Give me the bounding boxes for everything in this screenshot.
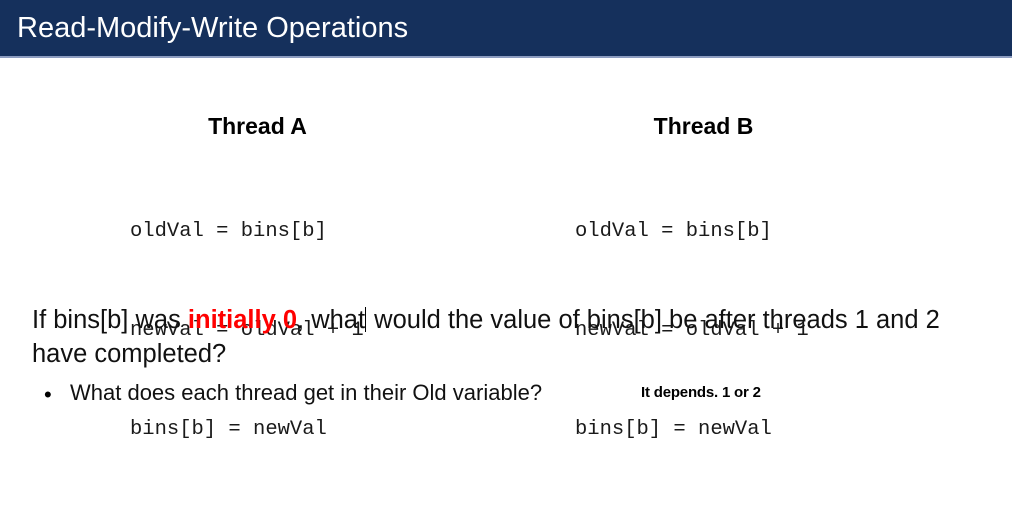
bullet-row: • What does each thread get in their Old… [42, 378, 1002, 410]
question-part-1: If bins[b] was [32, 306, 188, 334]
code-line: bins[b] = newVal [575, 413, 965, 446]
code-line: oldVal = bins[b] [575, 215, 965, 248]
answer-annotation: It depends. 1 or 2 [641, 383, 761, 403]
code-line: oldVal = bins[b] [130, 215, 520, 248]
thread-b-heading: Thread B [575, 112, 965, 140]
code-line: bins[b] = newVal [130, 413, 520, 446]
slide-title-banner: Read-Modify-Write Operations [0, 0, 1012, 58]
bullet-text: What does each thread get in their Old v… [70, 378, 542, 408]
thread-a-heading: Thread A [130, 112, 520, 140]
page-title: Read-Modify-Write Operations [17, 11, 408, 45]
question-paragraph: If bins[b] was initially 0, what would t… [32, 303, 992, 371]
question-highlight: initially 0 [188, 306, 297, 334]
bullet-marker-icon: • [44, 382, 52, 408]
text-caret [365, 307, 366, 332]
question-part-2: , what [297, 306, 365, 334]
